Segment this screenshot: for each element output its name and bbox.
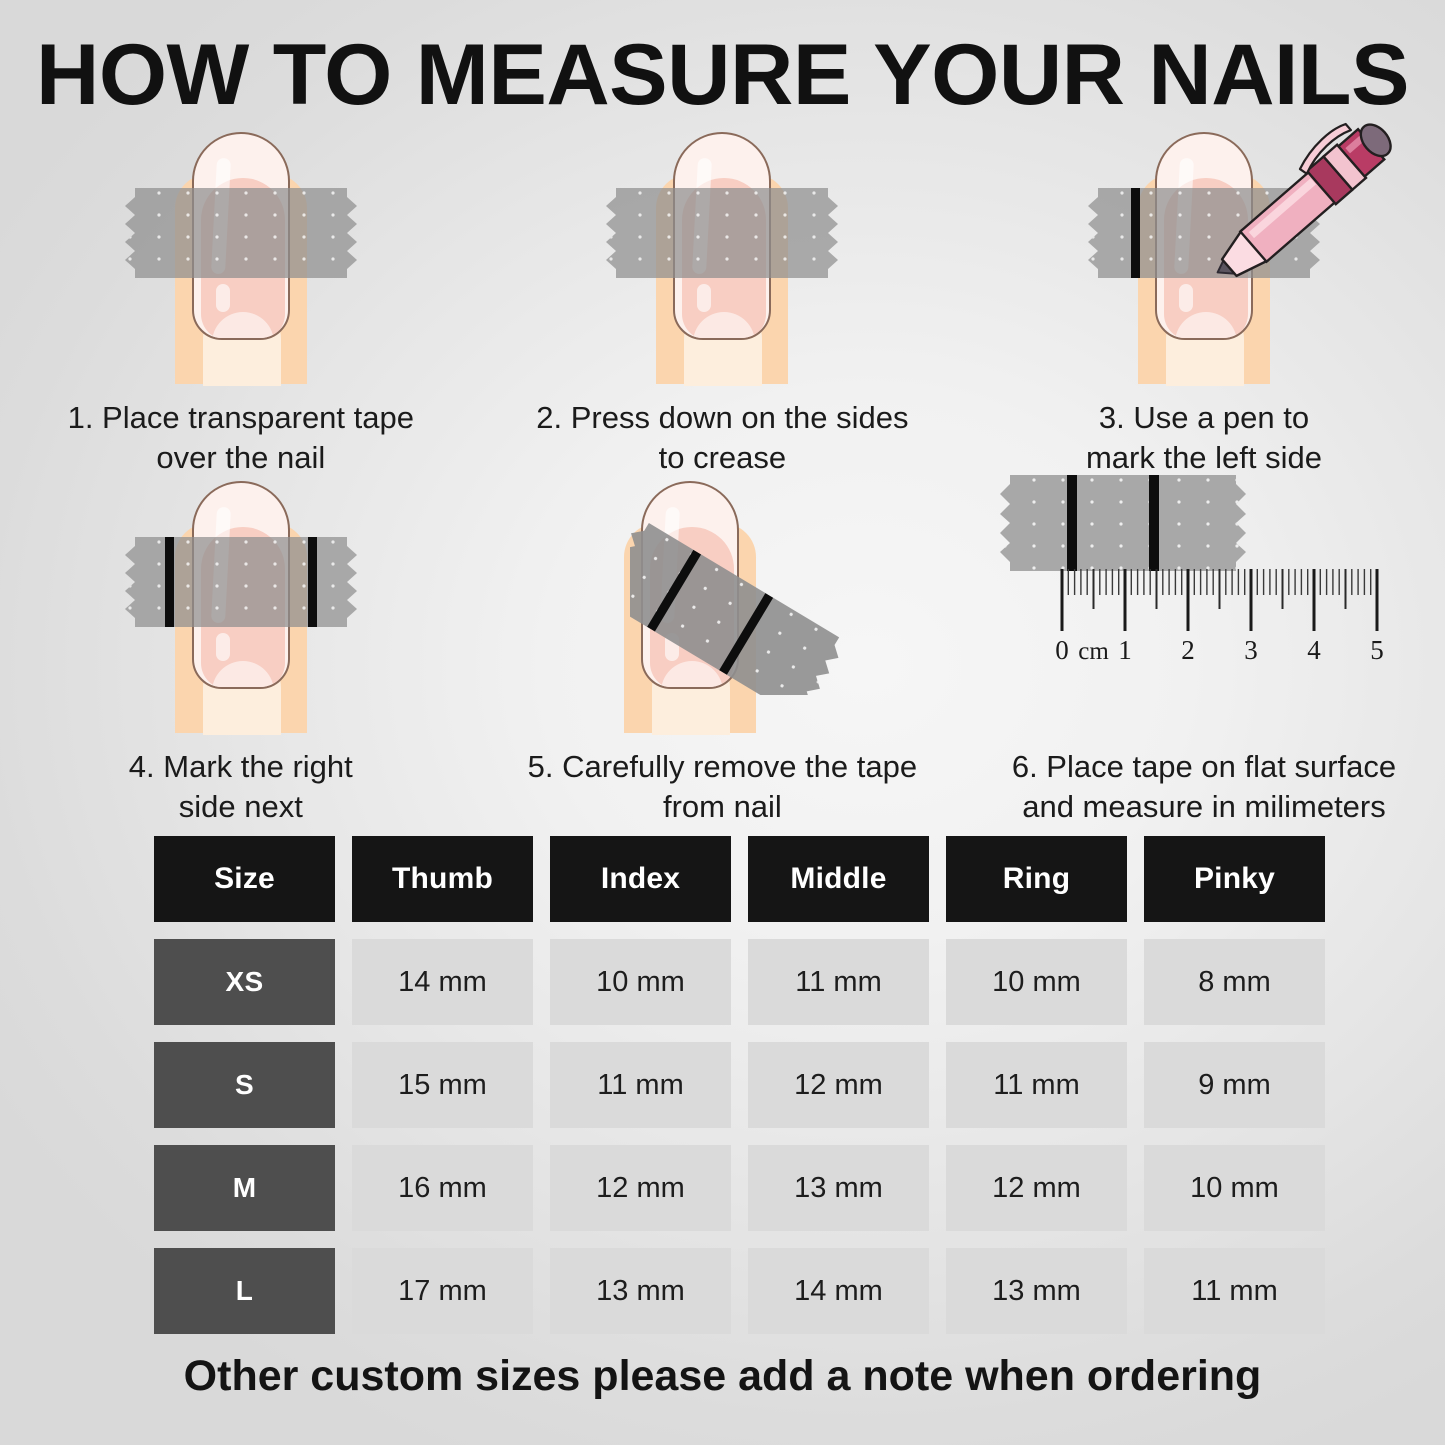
pen-mark-left (165, 537, 174, 627)
cell-l-thumb: 17 mm (352, 1248, 533, 1334)
cell-m-index: 12 mm (550, 1145, 731, 1231)
cell-xs-index: 10 mm (550, 939, 731, 1025)
step-3: 3. Use a pen to mark the left side (963, 112, 1445, 477)
nail-gloss-small-icon (216, 284, 230, 312)
step-1-illustration (31, 112, 451, 384)
cell-s-index: 11 mm (550, 1042, 731, 1128)
nail-gloss-small-icon (216, 633, 230, 661)
tape-strip-peeled (630, 515, 930, 675)
table-header-thumb: Thumb (352, 836, 533, 922)
tape-strip (125, 188, 357, 278)
table-row: M 16 mm 12 mm 13 mm 12 mm 10 mm (154, 1145, 1330, 1231)
table-header-pinky: Pinky (1144, 836, 1325, 922)
tape-strip (125, 537, 357, 627)
table-header-size: Size (154, 836, 335, 922)
step-4-illustration (31, 461, 451, 733)
size-label-xs: XS (154, 939, 335, 1025)
cell-s-middle: 12 mm (748, 1042, 929, 1128)
cell-xs-pinky: 8 mm (1144, 939, 1325, 1025)
cell-m-ring: 12 mm (946, 1145, 1127, 1231)
page-title: HOW TO MEASURE YOUR NAILS (0, 26, 1445, 125)
table-row: L 17 mm 13 mm 14 mm 13 mm 11 mm (154, 1248, 1330, 1334)
cell-m-pinky: 10 mm (1144, 1145, 1325, 1231)
pen-mark-left (1067, 475, 1077, 571)
cell-m-middle: 13 mm (748, 1145, 929, 1231)
cell-l-index: 13 mm (550, 1248, 731, 1334)
cell-s-pinky: 9 mm (1144, 1042, 1325, 1128)
tape-strip-creased (606, 188, 838, 278)
cell-l-ring: 13 mm (946, 1248, 1127, 1334)
steps-row-top: 1. Place transparent tape over the nail (0, 112, 1445, 477)
step-6-caption: 6. Place tape on flat surface and measur… (989, 747, 1419, 826)
ruler-tick-label: 3 (1244, 635, 1258, 665)
table-header-index: Index (550, 836, 731, 922)
footer-note: Other custom sizes please add a note whe… (0, 1352, 1445, 1401)
steps-section: 1. Place transparent tape over the nail (0, 112, 1445, 827)
ruler-tick-label: 4 (1307, 635, 1321, 665)
step-6-illustration: 012345cm (994, 461, 1414, 733)
tape-strip-on-ruler (1000, 475, 1246, 571)
step-2-illustration (512, 112, 932, 384)
cell-xs-ring: 10 mm (946, 939, 1127, 1025)
ruler-tick-label: 1 (1118, 635, 1132, 665)
ruler-unit-label: cm (1078, 638, 1109, 665)
step-5-caption: 5. Carefully remove the tape from nail (507, 747, 937, 826)
cell-xs-thumb: 14 mm (352, 939, 533, 1025)
step-6: 012345cm 6. Place tape on flat surface a… (963, 461, 1445, 826)
step-4: 4. Mark the right side next (0, 461, 482, 826)
pen-mark-right (308, 537, 317, 627)
size-table: Size Thumb Index Middle Ring Pinky XS 14… (154, 836, 1330, 1351)
table-row: S 15 mm 11 mm 12 mm 11 mm 9 mm (154, 1042, 1330, 1128)
pen-mark-right (1149, 475, 1159, 571)
step-4-caption: 4. Mark the right side next (26, 747, 456, 826)
infographic-page: HOW TO MEASURE YOUR NAILS (0, 0, 1445, 1445)
size-label-l: L (154, 1248, 335, 1334)
cell-s-ring: 11 mm (946, 1042, 1127, 1128)
cell-l-middle: 14 mm (748, 1248, 929, 1334)
step-1: 1. Place transparent tape over the nail (0, 112, 482, 477)
ruler-tick-label: 2 (1181, 635, 1195, 665)
cell-xs-middle: 11 mm (748, 939, 929, 1025)
step-2: 2. Press down on the sides to crease (482, 112, 964, 477)
table-row: XS 14 mm 10 mm 11 mm 10 mm 8 mm (154, 939, 1330, 1025)
step-5-illustration (512, 461, 932, 733)
ruler-tick-label: 0 (1055, 635, 1069, 665)
pen-icon (1182, 116, 1422, 306)
table-header-row: Size Thumb Index Middle Ring Pinky (154, 836, 1330, 922)
cell-m-thumb: 16 mm (352, 1145, 533, 1231)
steps-row-bottom: 4. Mark the right side next (0, 461, 1445, 826)
table-header-ring: Ring (946, 836, 1127, 922)
pen-mark-left (1131, 188, 1140, 278)
table-header-middle: Middle (748, 836, 929, 922)
cell-l-pinky: 11 mm (1144, 1248, 1325, 1334)
size-label-m: M (154, 1145, 335, 1231)
ruler-tick-label: 5 (1370, 635, 1384, 665)
step-5: 5. Carefully remove the tape from nail (482, 461, 964, 826)
ruler-icon: 012345cm (1050, 569, 1410, 665)
nail-gloss-small-icon (697, 284, 711, 312)
cell-s-thumb: 15 mm (352, 1042, 533, 1128)
step-3-illustration (994, 112, 1414, 384)
size-label-s: S (154, 1042, 335, 1128)
